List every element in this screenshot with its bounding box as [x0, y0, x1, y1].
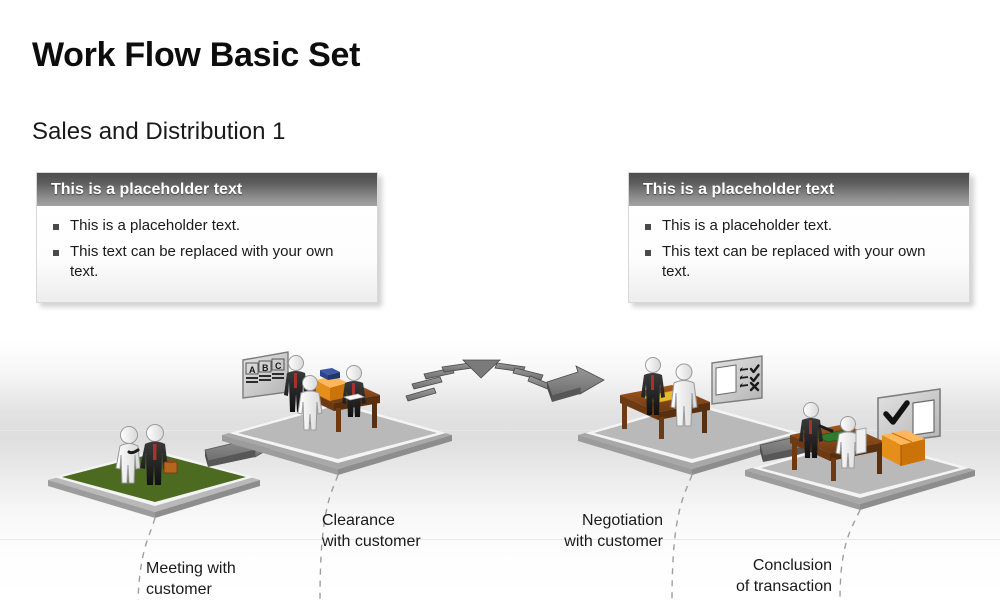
placeholder-box-right-title: This is a placeholder text: [643, 181, 834, 199]
bullet-square-icon: [645, 250, 651, 256]
caption-meeting: Meeting with customer: [146, 558, 236, 600]
list-item: This text can be replaced with your own …: [49, 242, 365, 282]
bullet-text: This text can be replaced with your own …: [70, 242, 350, 282]
bullet-square-icon: [53, 224, 59, 230]
leader-line-conclusion: [840, 510, 860, 600]
page-subtitle: Sales and Distribution 1: [32, 118, 285, 146]
slide-canvas: Work Flow Basic Set Sales and Distributi…: [0, 0, 1000, 600]
bullet-text: This is a placeholder text.: [70, 216, 240, 236]
workflow-illustration: A B C: [0, 340, 1000, 600]
placeholder-box-right[interactable]: This is a placeholder text This is a pla…: [628, 172, 970, 303]
placeholder-box-right-body: This is a placeholder text. This text ca…: [629, 206, 969, 302]
board-label-c: C: [275, 361, 282, 371]
caption-negotiation: Negotiation with customer: [535, 510, 663, 552]
bullet-text: This is a placeholder text.: [662, 216, 832, 236]
caption-conclusion: Conclusion of transaction: [700, 555, 832, 597]
list-item: This is a placeholder text.: [49, 216, 365, 236]
checklist-board: [712, 340, 762, 404]
board-label-b: B: [262, 363, 269, 373]
arrow-connector-arc: [406, 360, 604, 402]
board-label-a: A: [249, 365, 256, 375]
placeholder-box-right-header: This is a placeholder text: [629, 173, 969, 206]
caption-clearance: Clearance with customer: [322, 510, 421, 552]
bullet-square-icon: [53, 250, 59, 256]
list-item: This text can be replaced with your own …: [641, 242, 957, 282]
abc-board: A B C: [243, 340, 288, 398]
placeholder-box-left-header: This is a placeholder text: [37, 173, 377, 206]
placeholder-box-left[interactable]: This is a placeholder text This is a pla…: [36, 172, 378, 303]
bullet-square-icon: [645, 224, 651, 230]
bullet-text: This text can be replaced with your own …: [662, 242, 942, 282]
placeholder-box-left-body: This is a placeholder text. This text ca…: [37, 206, 377, 302]
approval-board: [878, 340, 940, 444]
list-item: This is a placeholder text.: [641, 216, 957, 236]
page-title: Work Flow Basic Set: [32, 36, 360, 75]
placeholder-box-left-title: This is a placeholder text: [51, 181, 242, 199]
leader-line-negotiation: [672, 475, 692, 600]
